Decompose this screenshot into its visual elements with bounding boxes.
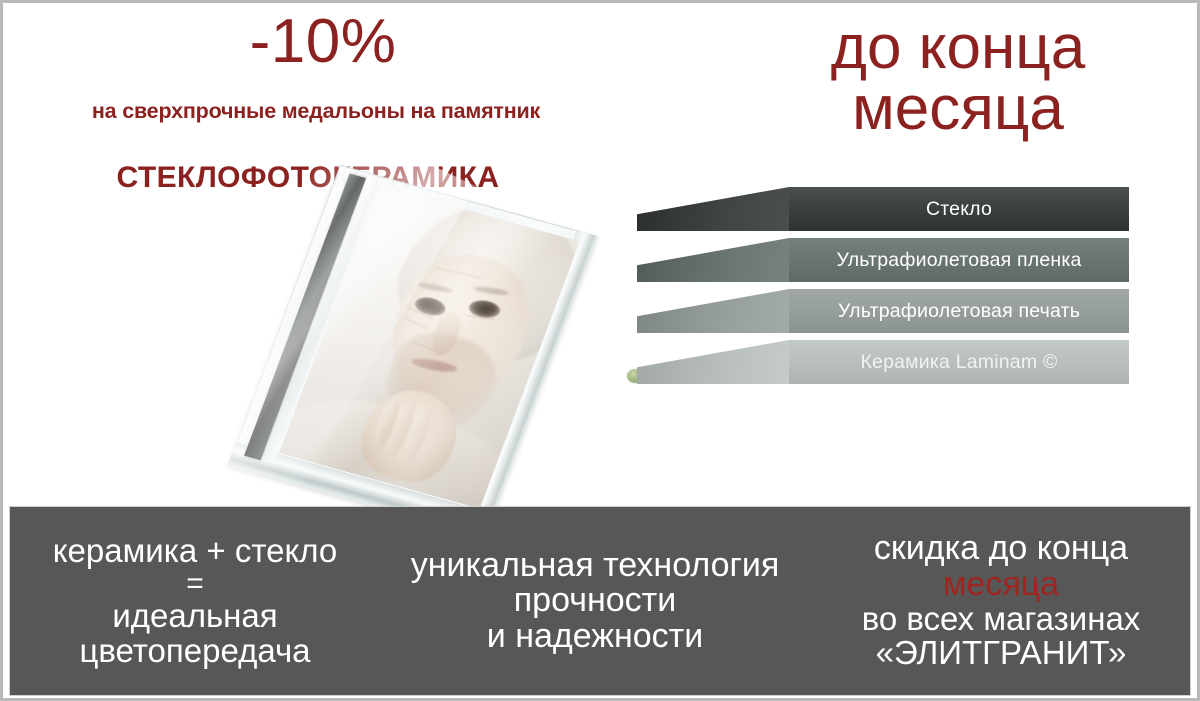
layer-uv-film: Ультрафиолетовая пленка <box>789 238 1129 282</box>
benefit-line: = <box>14 568 376 599</box>
benefit-line: уникальная технология <box>384 548 806 583</box>
benefit-line: цветопередача <box>14 634 376 668</box>
benefit-column-color: керамика + стекло = идеальная цветоперед… <box>10 534 380 668</box>
benefit-line: керамика + стекло <box>14 534 376 568</box>
poster-top-section: -10% на сверхпрочные медальоны на памятн… <box>3 3 1197 500</box>
layer-label: Стекло <box>926 198 992 221</box>
promo-period-line-2: месяца <box>852 74 1064 143</box>
benefit-line: и надежности <box>384 619 806 654</box>
layer-side-face <box>637 340 789 384</box>
layer-label: Керамика Laminam © <box>860 351 1057 374</box>
product-name-heading: СТЕКЛОФОТОКЕРАМИКА <box>43 161 573 195</box>
layer-ceramic: Керамика Laminam © <box>789 340 1129 384</box>
benefit-line: идеальная <box>14 599 376 633</box>
discount-subtitle: на сверхпрочные медальоны на памятник <box>21 99 611 124</box>
product-photo <box>239 199 679 509</box>
layer-side-face <box>637 238 789 282</box>
benefit-column-technology: уникальная технология прочности и надежн… <box>380 548 810 654</box>
benefits-banner: керамика + стекло = идеальная цветоперед… <box>9 506 1191 696</box>
offer-line: скидка до конца <box>814 531 1188 566</box>
benefit-column-offer: скидка до конца месяца во всех магазинах… <box>810 531 1192 670</box>
store-name: «ЭЛИТГРАНИТ» <box>814 636 1188 670</box>
offer-line: во всех магазинах <box>814 602 1188 636</box>
layer-diagram: Стекло Ультрафиолетовая пленка Ультрафио… <box>639 187 1139 393</box>
layer-uv-print: Ультрафиолетовая печать <box>789 289 1129 333</box>
layer-label: Ультрафиолетовая печать <box>838 300 1080 323</box>
layer-side-face <box>637 289 789 333</box>
benefit-line: прочности <box>384 583 806 618</box>
glass-plate <box>228 165 599 537</box>
advertisement-poster: -10% на сверхпрочные медальоны на памятн… <box>0 0 1200 701</box>
offer-highlight: месяца <box>814 567 1188 602</box>
discount-headline: -10% <box>208 11 438 73</box>
promo-period-headline: до конца месяца <box>743 18 1173 140</box>
layer-label: Ультрафиолетовая пленка <box>836 249 1081 272</box>
promo-period-line-1: до конца <box>831 13 1085 82</box>
layer-side-face <box>637 187 789 231</box>
layer-glass: Стекло <box>789 187 1129 231</box>
